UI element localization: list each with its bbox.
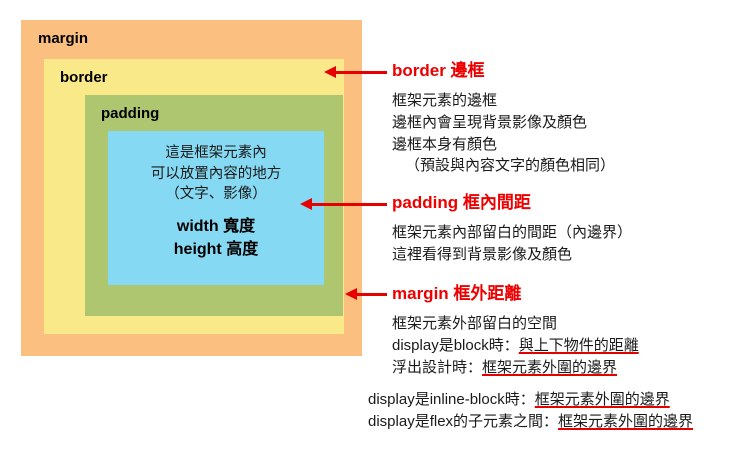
extra-flex-prefix: display是flex的子元素之間： <box>368 413 558 430</box>
content-layer: 這是框架元素內 可以放置內容的地方 （文字、影像） width 寬度 heigh… <box>108 131 324 285</box>
border-arrow-left-icon <box>335 71 387 74</box>
padding-annotation-line-2: 這裡看得到背景影像及顏色 <box>392 244 632 266</box>
margin-block-prefix: display是block時： <box>392 337 519 354</box>
border-annotation-body: 框架元素的邊框 邊框內會呈現背景影像及顏色 邊框本身有顏色 （預設與內容文字的顏… <box>392 90 615 177</box>
border-annotation-title: border 邊框 <box>392 62 485 79</box>
margin-annotation-body: 框架元素外部留白的空間 display是block時：與上下物件的距離 浮出設計… <box>392 313 639 378</box>
margin-annotation-title: margin 框外距離 <box>392 285 521 302</box>
box-model-diagram: margin border padding 這是框架元素內 可以放置內容的地方 … <box>21 20 362 356</box>
padding-annotation-title: padding 框內間距 <box>392 194 531 211</box>
extra-annotation-line-flex: display是flex的子元素之間：框架元素外圍的邊界 <box>368 411 693 433</box>
extra-annotation-body: display是inline-block時：框架元素外圍的邊界 display是… <box>368 389 693 433</box>
extra-inline-prefix: display是inline-block時： <box>368 391 535 408</box>
margin-arrow-left-icon <box>356 293 387 296</box>
margin-annotation-line-block: display是block時：與上下物件的距離 <box>392 335 639 357</box>
content-text-line-1: 這是框架元素內 <box>165 143 267 164</box>
extra-flex-underlined: 框架元素外圍的邊界 <box>558 413 693 430</box>
margin-block-underlined: 與上下物件的距離 <box>519 337 639 354</box>
margin-float-underlined: 框架元素外圍的邊界 <box>482 359 617 376</box>
content-width-label: width 寬度 <box>174 215 258 238</box>
padding-annotation-body: 框架元素內部留白的間距（內邊界） 這裡看得到背景影像及顏色 <box>392 222 632 266</box>
border-annotation-line-4: （預設與內容文字的顏色相同） <box>392 155 615 177</box>
border-annotation-line-1: 框架元素的邊框 <box>392 90 615 112</box>
content-text-line-3: （文字、影像） <box>165 184 267 205</box>
border-layer: border padding 這是框架元素內 可以放置內容的地方 （文字、影像）… <box>44 59 344 334</box>
padding-layer-label: padding <box>101 106 159 121</box>
margin-annotation-line-float: 浮出設計時：框架元素外圍的邊界 <box>392 357 639 379</box>
padding-arrow-left-icon <box>311 203 387 206</box>
margin-float-prefix: 浮出設計時： <box>392 359 482 376</box>
content-text-line-2: 可以放置內容的地方 <box>151 164 282 185</box>
border-annotation-line-3: 邊框本身有顏色 <box>392 134 615 156</box>
border-annotation-line-2: 邊框內會呈現背景影像及顏色 <box>392 112 615 134</box>
content-dimensions: width 寬度 height 高度 <box>174 215 258 261</box>
extra-inline-underlined: 框架元素外圍的邊界 <box>535 391 670 408</box>
border-layer-label: border <box>60 70 108 85</box>
margin-layer-label: margin <box>38 31 88 46</box>
padding-annotation-line-1: 框架元素內部留白的間距（內邊界） <box>392 222 632 244</box>
margin-layer: margin border padding 這是框架元素內 可以放置內容的地方 … <box>21 20 362 356</box>
content-height-label: height 高度 <box>174 238 258 261</box>
margin-annotation-line-1: 框架元素外部留白的空間 <box>392 313 639 335</box>
extra-annotation-line-inline: display是inline-block時：框架元素外圍的邊界 <box>368 389 693 411</box>
